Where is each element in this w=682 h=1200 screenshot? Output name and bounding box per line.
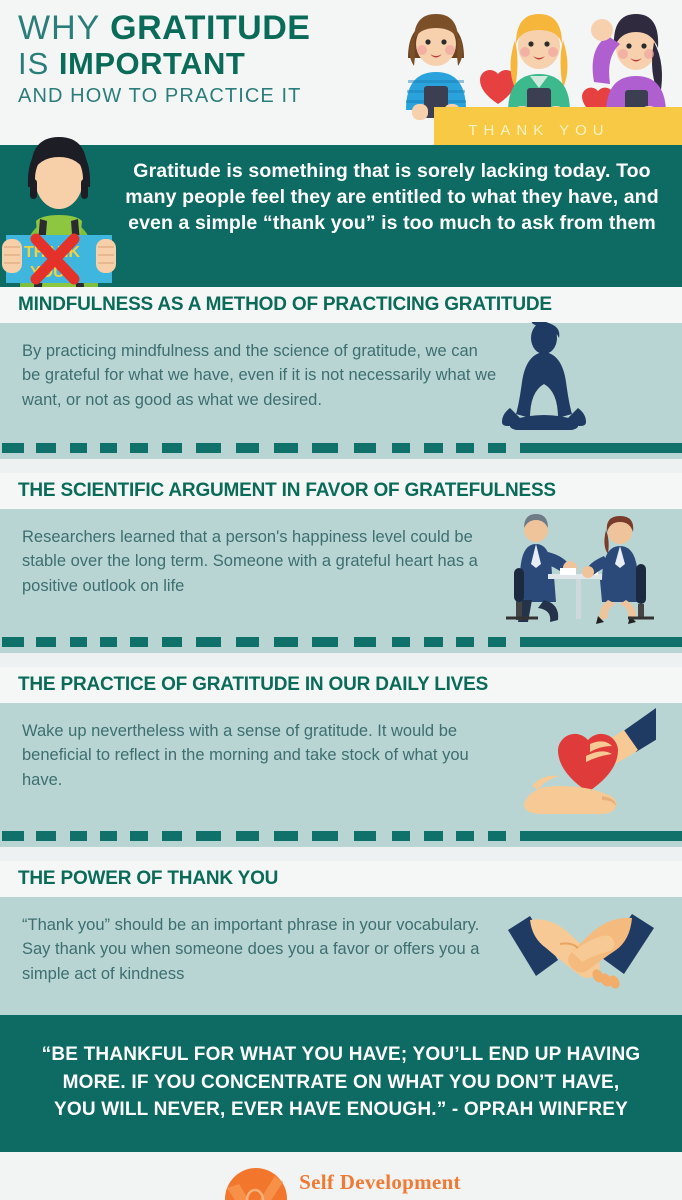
three-people-with-phones-illustration: THANK YOU (396, 0, 682, 145)
dashed-rule (0, 831, 682, 841)
footer: Self Development SECRETS (0, 1152, 682, 1200)
dashed-rule (0, 443, 682, 453)
section-heading-scientific-argument: THE SCIENTIFIC ARGUMENT IN FAVOR OF GRAT… (0, 480, 556, 502)
handshake-svg (506, 902, 656, 1006)
page-title-line-2: IS IMPORTANT (18, 47, 398, 82)
section-gap-3 (0, 847, 682, 861)
meditating-woman-silhouette-icon (484, 322, 604, 437)
section-gap-2 (0, 653, 682, 667)
section-heading-mindfulness: MINDFULNESS AS A METHOD OF PRACTICING GR… (0, 294, 552, 316)
footer-wave-decoration (0, 1189, 682, 1200)
section-paragraph-power-of-thank-you: “Thank you” should be an important phras… (0, 913, 500, 986)
intro-band: THANK YOU! Gratitude is something that i… (0, 145, 682, 287)
handshake-illustration (506, 902, 656, 1011)
section-paragraph-mindfulness: By practicing mindfulness and the scienc… (0, 339, 500, 412)
section-heading-band: THE SCIENTIFIC ARGUMENT IN FAVOR OF GRAT… (0, 473, 682, 509)
section-paragraph-daily-practice: Wake up nevertheless with a sense of gra… (0, 719, 500, 792)
section-body-scientific-argument: Researchers learned that a person's happ… (0, 509, 682, 631)
header-title-block: WHY GRATITUDE IS IMPORTANT AND HOW TO PR… (18, 10, 398, 111)
section-scientific-argument: THE SCIENTIFIC ARGUMENT IN FAVOR OF GRAT… (0, 473, 682, 667)
title-word-why: WHY (18, 9, 110, 47)
section-daily-practice: THE PRACTICE OF GRATITUDE IN OUR DAILY L… (0, 667, 682, 861)
header: WHY GRATITUDE IS IMPORTANT AND HOW TO PR… (0, 0, 682, 145)
quote-block: “BE THANKFUL FOR WHAT YOU HAVE; YOU’LL E… (0, 1015, 682, 1152)
title-word-is: IS (18, 46, 59, 81)
section-heading-band: THE PRACTICE OF GRATITUDE IN OUR DAILY L… (0, 667, 682, 703)
hand-giving-heart-illustration (506, 704, 656, 829)
section-gap-1 (0, 459, 682, 473)
title-word-gratitude: GRATITUDE (110, 9, 310, 47)
intro-paragraph: Gratitude is something that is sorely la… (118, 159, 666, 237)
quote-text: “BE THANKFUL FOR WHAT YOU HAVE; YOU’LL E… (40, 1041, 642, 1124)
office-meeting-svg (496, 508, 654, 624)
section-body-daily-practice: Wake up nevertheless with a sense of gra… (0, 703, 682, 825)
title-word-important: IMPORTANT (59, 46, 245, 81)
thank-you-banner-label: THANK YOU (396, 122, 682, 139)
section-paragraph-scientific-argument: Researchers learned that a person's happ… (0, 525, 500, 598)
section-body-power-of-thank-you: “Thank you” should be an important phras… (0, 897, 682, 1015)
page-subtitle: AND HOW TO PRACTICE IT (18, 81, 398, 111)
meditation-svg (484, 322, 604, 432)
two-people-at-desk-illustration (496, 508, 654, 629)
section-heading-band: THE POWER OF THANK YOU (0, 861, 682, 897)
hand-heart-svg (506, 704, 656, 824)
section-mindfulness: MINDFULNESS AS A METHOD OF PRACTICING GR… (0, 287, 682, 473)
page-title-line-1: WHY GRATITUDE (18, 10, 398, 47)
section-divider-1 (0, 437, 682, 459)
intro-illustration-svg: THANK YOU! (0, 127, 118, 287)
section-divider-2 (0, 631, 682, 653)
section-divider-3 (0, 825, 682, 847)
section-heading-power-of-thank-you: THE POWER OF THANK YOU (0, 868, 278, 890)
dashed-rule (0, 637, 682, 647)
section-heading-band: MINDFULNESS AS A METHOD OF PRACTICING GR… (0, 287, 682, 323)
section-body-mindfulness: By practicing mindfulness and the scienc… (0, 323, 682, 437)
section-heading-daily-practice: THE PRACTICE OF GRATITUDE IN OUR DAILY L… (0, 674, 488, 696)
man-holding-crossed-out-thank-you-sign: THANK YOU! (0, 127, 118, 287)
infographic-page: WHY GRATITUDE IS IMPORTANT AND HOW TO PR… (0, 0, 682, 1200)
section-power-of-thank-you: THE POWER OF THANK YOU “Thank you” shoul… (0, 861, 682, 1015)
